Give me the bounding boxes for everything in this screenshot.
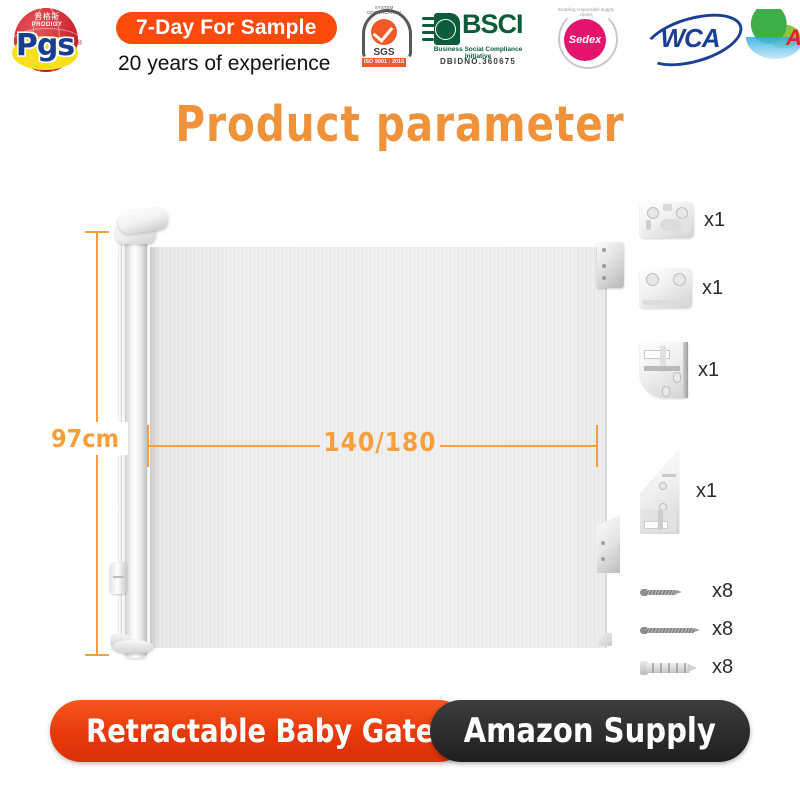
part-row: x1 (640, 342, 800, 398)
corner-l-bracket-icon (640, 342, 688, 398)
bottom-banner: Retractable Baby Gate Amazon Supply (0, 700, 800, 772)
post-latch-clip (110, 562, 127, 594)
sgs-logo: SYSTEM CERTIFICATION SGS ISO 9001 : 2015 (356, 5, 412, 75)
aeo-logo: AEO (746, 5, 800, 75)
part-row: x1 (640, 268, 800, 308)
bsci-logo: BSCI Business Social Compliance Initiati… (422, 5, 534, 75)
short-screw-icon (640, 586, 702, 598)
part-quantity: x8 (712, 618, 733, 641)
width-dimension-left-tick (147, 425, 149, 467)
post-release-lever (117, 207, 169, 235)
sgs-bar: ISO 9001 : 2015 (362, 58, 406, 67)
experience-label: 20 years of experience (118, 52, 330, 76)
tall-angle-bracket-icon (640, 448, 686, 534)
sedex-logo: Enabling responsible supply chains Sedex (548, 5, 624, 75)
sample-offer-badge: 7-Day For Sample (116, 12, 337, 44)
part-row: x8 (640, 656, 800, 679)
bsci-code: DBIDNO.360675 (422, 57, 534, 66)
channel-badge: Amazon Supply (430, 700, 750, 762)
brand-name: Pgs (13, 28, 77, 63)
width-dimension-line-left (148, 445, 320, 447)
post-base-foot (112, 640, 154, 654)
product-parameter-page: 普格斯 PRODIGY Pgs ® 7-Day For Sample 20 ye… (0, 0, 800, 800)
product-name-label: Retractable Baby Gate (86, 712, 434, 750)
sgs-bar-text: ISO 9001 : 2015 (362, 58, 406, 67)
certification-logos: SYSTEM CERTIFICATION SGS ISO 9001 : 2015… (352, 5, 796, 77)
height-dimension-label: 97cm (42, 422, 128, 455)
part-quantity: x1 (702, 277, 723, 300)
width-dimension-right-tick (596, 425, 598, 467)
bsci-mark-icon (422, 13, 460, 45)
wall-anchor-icon (640, 661, 702, 675)
sample-offer-label: 7-Day For Sample (136, 16, 317, 40)
header-bar: 普格斯 PRODIGY Pgs ® 7-Day For Sample 20 ye… (0, 0, 800, 88)
mesh-bottom-corner-piece (598, 633, 612, 646)
mesh-top-right-bracket (597, 242, 624, 288)
pgs-brand-logo: 普格斯 PRODIGY Pgs ® (10, 6, 82, 78)
height-dimension-top-tick (85, 231, 109, 233)
wca-label: WCA (640, 23, 740, 54)
part-quantity: x1 (696, 480, 717, 503)
part-quantity: x8 (712, 656, 733, 679)
product-name-badge: Retractable Baby Gate (50, 700, 470, 762)
gate-left-post (125, 230, 147, 658)
part-row: x1 (640, 202, 800, 238)
brand-chinese-name: 普格斯 (24, 12, 70, 21)
aeo-label: AEO (786, 25, 800, 51)
included-parts-list: x1 x1 x1 x1 (640, 190, 800, 690)
part-quantity: x1 (698, 359, 719, 382)
height-dimension-bottom-tick (85, 654, 109, 656)
width-dimension-label: 140/180 (318, 428, 442, 458)
part-row: x1 (640, 448, 800, 534)
flat-mounting-plate-icon (640, 268, 692, 308)
page-title: Product parameter (32, 96, 768, 153)
width-dimension-line-right (440, 445, 598, 447)
part-quantity: x1 (704, 209, 725, 232)
bsci-label: BSCI (462, 9, 523, 40)
sgs-label: SGS (356, 47, 412, 58)
registered-mark: ® (77, 40, 82, 47)
mesh-edge-shadow (150, 247, 160, 648)
sedex-label: Sedex (564, 34, 606, 46)
part-quantity: x8 (712, 580, 733, 603)
bsci-globe-icon (435, 19, 456, 40)
channel-label: Amazon Supply (464, 711, 716, 751)
part-row: x8 (640, 580, 800, 603)
wca-logo: WCA (640, 5, 740, 75)
long-screw-icon (640, 624, 702, 636)
part-row: x8 (640, 618, 800, 641)
wall-plate-bracket-icon (640, 202, 694, 238)
